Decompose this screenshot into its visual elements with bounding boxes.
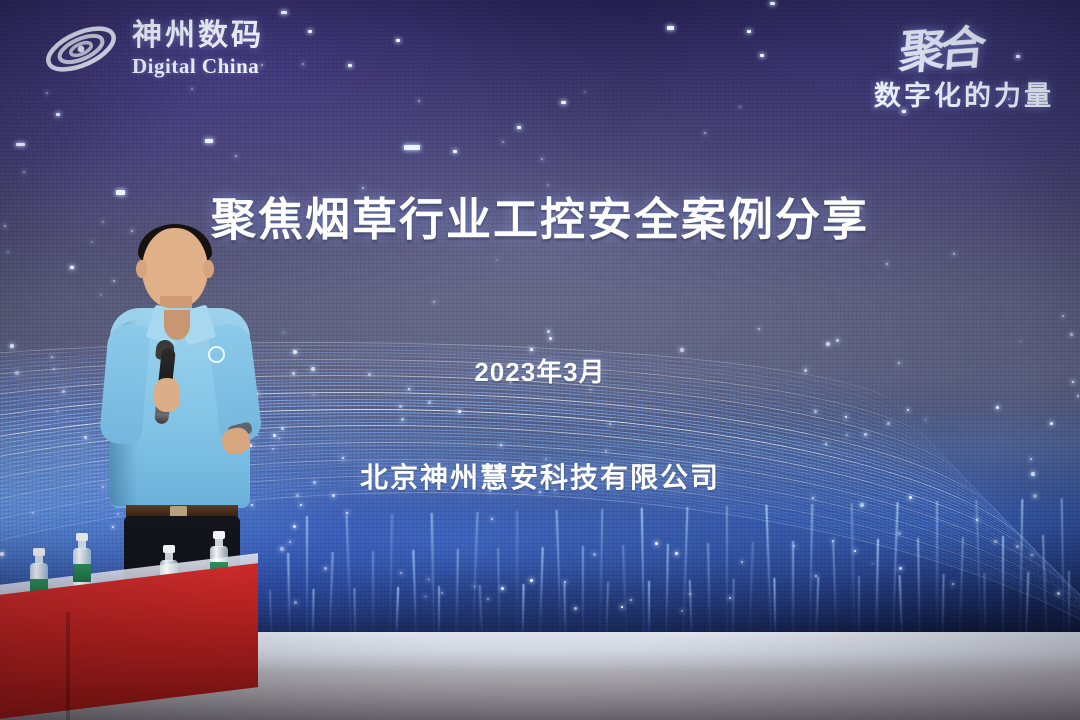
light-particle (23, 171, 25, 173)
light-particle (976, 519, 978, 521)
light-particle (530, 348, 533, 351)
light-particle (747, 30, 751, 33)
light-particle (953, 253, 955, 255)
light-particle (502, 141, 504, 143)
light-particle (952, 583, 954, 585)
light-particle (517, 126, 521, 129)
light-particle (549, 337, 552, 340)
light-particle (1031, 554, 1033, 556)
light-particle (530, 579, 533, 582)
digital-china-wordmark: 神州数码 Digital China (132, 21, 264, 77)
brand-name-en: Digital China (132, 56, 264, 77)
light-particle (994, 540, 997, 543)
light-particle (70, 266, 74, 269)
juhe-calligraphy: 聚合 (897, 11, 984, 82)
light-particle (630, 599, 632, 601)
juhe-brand: 聚合 数字化的力量 (874, 14, 1054, 113)
light-particle (1070, 333, 1073, 336)
presenter-ear-left (136, 260, 147, 278)
light-particle (1050, 422, 1053, 425)
light-particle (302, 63, 304, 65)
light-particle (621, 606, 623, 608)
light-particle (496, 259, 498, 261)
light-particle (609, 423, 611, 425)
light-particle (1062, 315, 1064, 317)
light-particle (294, 601, 297, 604)
light-particle (433, 301, 435, 303)
light-particle (396, 39, 400, 42)
presenter-ear-right (203, 260, 214, 278)
light-particle (324, 567, 327, 570)
light-particle (826, 342, 830, 346)
light-particle (846, 434, 848, 436)
light-particle (739, 106, 741, 108)
light-particle (205, 139, 213, 143)
brand-name-cn: 神州数码 (132, 21, 264, 51)
light-particle (32, 512, 34, 514)
light-particle (561, 101, 566, 104)
light-particle (308, 30, 312, 33)
light-particle (898, 532, 901, 535)
light-particle (655, 542, 658, 545)
light-particle (770, 2, 775, 5)
light-particle (458, 410, 461, 413)
light-particle (10, 344, 14, 348)
light-particle (441, 592, 443, 594)
light-particle (289, 541, 291, 543)
light-particle (864, 433, 867, 436)
light-particle (501, 587, 504, 590)
light-particle (281, 427, 284, 430)
light-particle (404, 145, 420, 150)
light-particle (729, 597, 731, 599)
light-particle (758, 328, 760, 330)
light-particle (453, 150, 457, 153)
light-particle (1016, 545, 1019, 548)
light-particle (300, 504, 302, 506)
light-particle (593, 553, 596, 556)
conference-stage-photo: 聚焦烟草行业工控安全案例分享 2023年3月 北京神州慧安科技有限公司 神州数码… (0, 0, 1080, 720)
light-particle (741, 561, 743, 563)
light-particle (500, 444, 502, 446)
light-particle (346, 512, 348, 514)
light-particle (860, 503, 864, 507)
light-particle (825, 443, 827, 445)
light-particle (7, 251, 9, 253)
light-particle (760, 54, 764, 57)
digital-china-swirl-icon (42, 18, 120, 80)
light-particle (541, 158, 543, 160)
light-particle (84, 436, 87, 439)
light-particle (704, 132, 706, 134)
light-particle (1077, 395, 1079, 397)
light-particle (46, 92, 48, 94)
light-particle (814, 410, 817, 413)
light-particle (56, 113, 60, 116)
light-particle (280, 547, 284, 551)
light-particle (547, 330, 550, 333)
table-cloth-fold (66, 612, 70, 720)
light-particle (418, 100, 420, 102)
digital-china-brand: 神州数码 Digital China (42, 18, 264, 80)
light-particle (1057, 592, 1060, 595)
light-particle (16, 143, 25, 146)
light-particle (812, 497, 814, 499)
light-particle (235, 155, 237, 157)
light-particle (281, 11, 287, 14)
light-particle (584, 91, 586, 93)
shirt-logo-icon (208, 346, 225, 363)
light-particle (832, 540, 834, 542)
light-particle (564, 581, 566, 583)
light-particle (667, 26, 674, 30)
light-particle (191, 88, 193, 90)
presenter-hand-holding-mic (154, 378, 180, 412)
light-particle (886, 263, 888, 265)
light-particle (0, 552, 4, 556)
light-particle (348, 64, 352, 67)
light-particle (428, 401, 431, 404)
light-particle (400, 572, 402, 574)
light-particle (793, 545, 795, 547)
presenter-neckline (164, 310, 190, 340)
light-particle (854, 550, 856, 552)
